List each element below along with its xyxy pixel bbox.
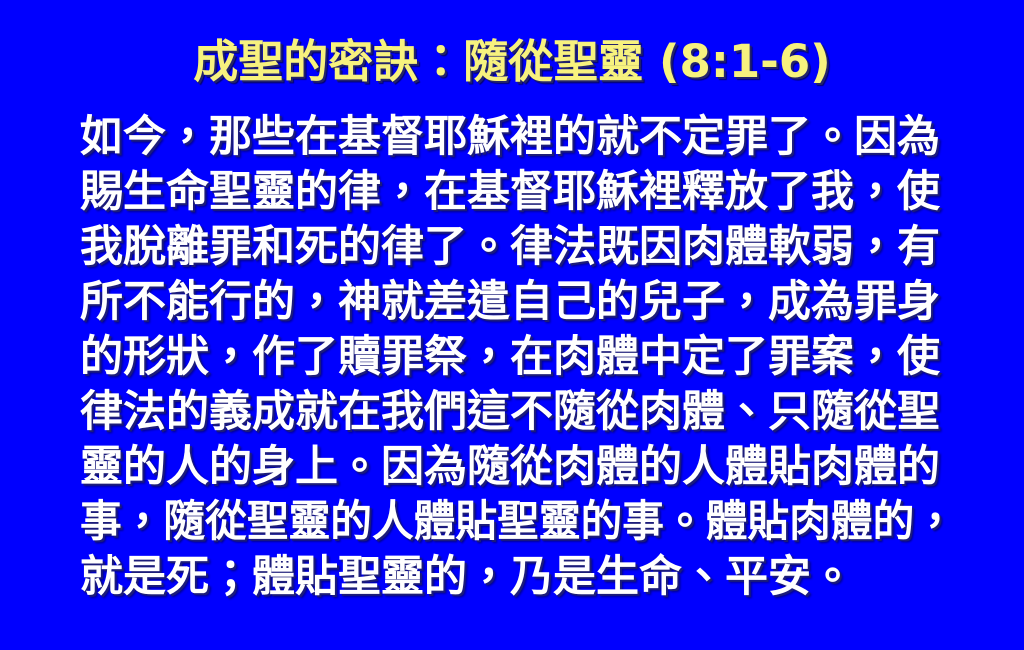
scripture-line-text: 的形狀，作了贖罪祭，在肉體中定了罪案，使 xyxy=(80,330,940,385)
scripture-line-text: 如今，那些在基督耶穌裡的就不定罪了。因為 xyxy=(80,110,940,165)
scripture-line-text: 事，隨從聖靈的人體貼聖靈的事。體貼肉體的， xyxy=(80,495,956,550)
scripture-line: 所不能行的，神就差遣自己的兒子，成為罪身 xyxy=(80,275,960,330)
slide-title: 成聖的密訣：隨從聖靈 (8:1-6) xyxy=(0,34,1024,90)
scripture-line: 律法的義成就在我們這不隨從肉體、只隨從聖 xyxy=(80,385,960,440)
scripture-line: 事，隨從聖靈的人體貼聖靈的事。體貼肉體的， xyxy=(80,495,960,550)
scripture-line: 的形狀，作了贖罪祭，在肉體中定了罪案，使 xyxy=(80,330,960,385)
scripture-line: 靈的人的身上。因為隨從肉體的人體貼肉體的 xyxy=(80,440,960,495)
scripture-line-text: 所不能行的，神就差遣自己的兒子，成為罪身 xyxy=(80,275,940,330)
scripture-line: 就是死；體貼聖靈的，乃是生命、平安。 xyxy=(80,550,960,605)
scripture-line: 如今，那些在基督耶穌裡的就不定罪了。因為 xyxy=(80,110,960,165)
scripture-line-text: 賜生命聖靈的律，在基督耶穌裡釋放了我，使 xyxy=(80,165,940,220)
scripture-line-text: 我脫離罪和死的律了。律法既因肉體軟弱，有 xyxy=(80,220,940,275)
scripture-line: 賜生命聖靈的律，在基督耶穌裡釋放了我，使 xyxy=(80,165,960,220)
scripture-line-text: 就是死；體貼聖靈的，乃是生命、平安。 xyxy=(80,552,854,602)
scripture-line: 我脫離罪和死的律了。律法既因肉體軟弱，有 xyxy=(80,220,960,275)
scripture-body: 如今，那些在基督耶穌裡的就不定罪了。因為 賜生命聖靈的律，在基督耶穌裡釋放了我，… xyxy=(80,110,960,605)
scripture-slide: 成聖的密訣：隨從聖靈 (8:1-6) 如今，那些在基督耶穌裡的就不定罪了。因為 … xyxy=(0,0,1024,650)
scripture-line-text: 律法的義成就在我們這不隨從肉體、只隨從聖 xyxy=(80,385,940,440)
scripture-line-text: 靈的人的身上。因為隨從肉體的人體貼肉體的 xyxy=(80,440,940,495)
